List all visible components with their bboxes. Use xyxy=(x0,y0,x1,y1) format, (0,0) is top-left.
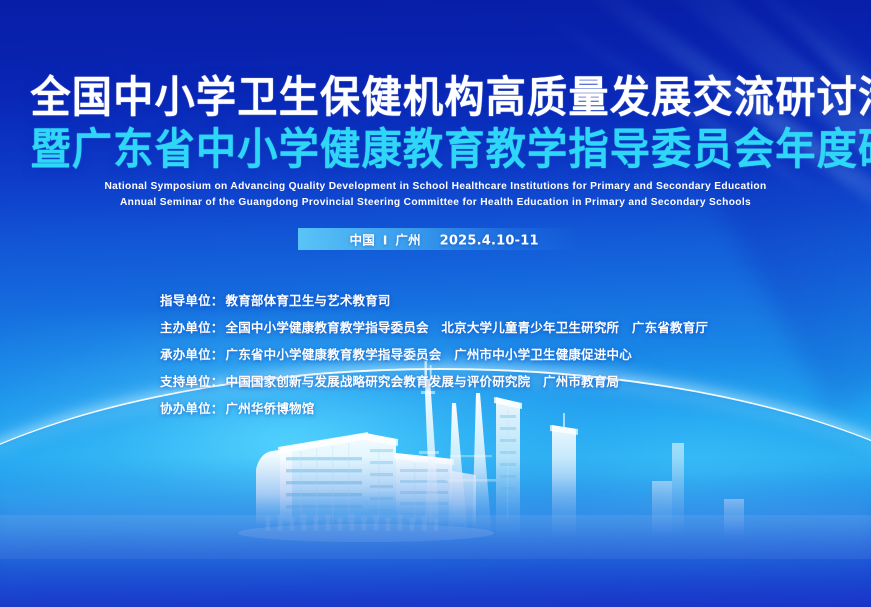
title-chinese-line1: 全国中小学卫生保健机构高质量发展交流研讨活动 xyxy=(30,72,840,124)
poster-title: 全国中小学卫生保健机构高质量发展交流研讨活动 暨广东省中小学健康教育教学指导委员… xyxy=(0,72,871,176)
organization-row: 指导单位：教育部体育卫生与艺术教育司 xyxy=(160,287,708,314)
organization-value: 广东省中小学健康教育教学指导委员会 广州市中小学卫生健康促进中心 xyxy=(224,347,632,362)
organization-label: 主办单位： xyxy=(160,320,224,335)
organization-label: 承办单位： xyxy=(160,347,224,362)
event-date-location-text: 中国 I 广州 2025.4.10-11 xyxy=(350,230,539,249)
event-date-location-bar: 中国 I 广州 2025.4.10-11 xyxy=(298,228,574,250)
event-dates: 2025.4.10-11 xyxy=(426,234,539,249)
subtitle-english-line2: Annual Seminar of the Guangdong Provinci… xyxy=(13,194,858,210)
event-bar-wrapper: 中国 I 广州 2025.4.10-11 xyxy=(0,228,871,250)
organization-value: 广州华侨博物馆 xyxy=(224,401,315,416)
event-city: 广州 xyxy=(395,233,421,248)
event-country: 中国 xyxy=(350,233,376,248)
organization-value: 中国国家创新与发展战略研究会教育发展与评价研究院 广州市教育局 xyxy=(224,374,620,389)
organization-row: 主办单位：全国中小学健康教育教学指导委员会 北京大学儿童青少年卫生研究所 广东省… xyxy=(160,314,708,341)
poster-subtitle-english: National Symposium on Advancing Quality … xyxy=(0,178,871,210)
organizations-list: 指导单位：教育部体育卫生与艺术教育司 主办单位：全国中小学健康教育教学指导委员会… xyxy=(160,287,708,422)
subtitle-english-line1: National Symposium on Advancing Quality … xyxy=(13,178,858,194)
organization-value: 全国中小学健康教育教学指导委员会 北京大学儿童青少年卫生研究所 广东省教育厅 xyxy=(224,320,709,335)
organization-row: 承办单位：广东省中小学健康教育教学指导委员会 广州市中小学卫生健康促进中心 xyxy=(160,341,708,368)
conference-poster: 全国中小学卫生保健机构高质量发展交流研讨活动 暨广东省中小学健康教育教学指导委员… xyxy=(0,0,871,607)
title-chinese-line2: 暨广东省中小学健康教育教学指导委员会年度研讨活动 xyxy=(30,124,840,176)
background-bottom-shade xyxy=(0,457,871,607)
organization-label: 指导单位： xyxy=(160,293,224,308)
organization-value: 教育部体育卫生与艺术教育司 xyxy=(224,293,391,308)
organization-label: 支持单位： xyxy=(160,374,224,389)
organization-row: 协办单位：广州华侨博物馆 xyxy=(160,395,708,422)
organization-row: 支持单位：中国国家创新与发展战略研究会教育发展与评价研究院 广州市教育局 xyxy=(160,368,708,395)
event-separator: I xyxy=(380,233,391,248)
organization-label: 协办单位： xyxy=(160,401,224,416)
